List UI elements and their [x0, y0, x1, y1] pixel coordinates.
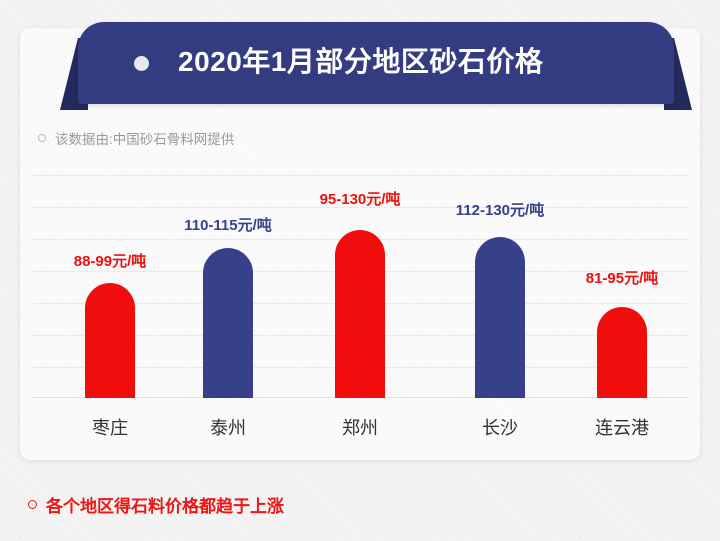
- hollow-circle-icon: [28, 500, 37, 509]
- category-label-泰州: 泰州: [210, 414, 246, 440]
- category-label-长沙: 长沙: [482, 414, 518, 440]
- category-label-连云港: 连云港: [595, 414, 649, 440]
- value-label-长沙: 112-130元/吨: [456, 199, 544, 220]
- value-label-郑州: 95-130元/吨: [320, 188, 401, 209]
- category-label-郑州: 郑州: [342, 414, 378, 440]
- category-label-枣庄: 枣庄: [92, 414, 128, 440]
- footer-note-text: 各个地区得石料价格都趋于上涨: [46, 492, 284, 517]
- chart-labels: 88-99元/吨枣庄110-115元/吨泰州95-130元/吨郑州112-130…: [0, 0, 720, 541]
- value-label-泰州: 110-115元/吨: [184, 214, 272, 235]
- value-label-枣庄: 88-99元/吨: [74, 250, 147, 271]
- footer-note: 各个地区得石料价格都趋于上涨: [28, 492, 284, 517]
- value-label-连云港: 81-95元/吨: [586, 267, 659, 288]
